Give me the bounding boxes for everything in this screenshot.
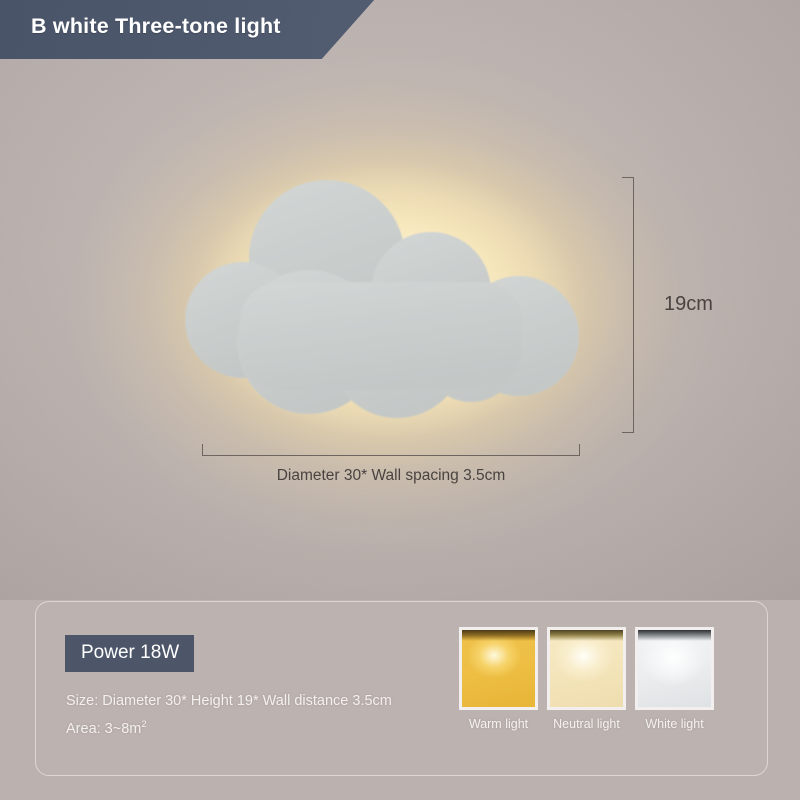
swatch-warm-shade	[462, 630, 535, 641]
swatch-white-label: White light	[645, 717, 703, 731]
swatch-white-shade	[638, 630, 711, 641]
spec-line-size: Size: Diameter 30* Height 19* Wall dista…	[66, 690, 392, 713]
cloud-lamp	[185, 172, 580, 428]
width-tick-right	[579, 444, 580, 456]
spec-area-superscript: 2	[141, 719, 146, 730]
product-image: Diameter 30* Wall spacing 3.5cm 19cm B w…	[0, 0, 800, 800]
swatch-white[interactable]: White light	[635, 627, 714, 731]
spec-panel: Power 18W Size: Diameter 30* Height 19* …	[35, 601, 768, 776]
width-dimension-line	[202, 455, 580, 456]
spec-area-text: Area: 3~8m	[66, 721, 141, 737]
width-dimension-bracket	[202, 444, 580, 456]
swatch-neutral-label: Neutral light	[553, 717, 620, 731]
color-temperature-swatches: Warm light Neutral light White light	[459, 627, 714, 731]
swatch-neutral-preview[interactable]	[547, 627, 626, 710]
height-dimension-label: 19cm	[664, 293, 713, 316]
banner-title: B white Three-tone light	[31, 14, 281, 39]
spec-line-area: Area: 3~8m2	[66, 713, 392, 741]
swatch-white-face	[638, 630, 711, 707]
width-dimension-label: Diameter 30* Wall spacing 3.5cm	[202, 467, 580, 485]
swatch-warm-face	[462, 630, 535, 707]
swatch-neutral-shade	[550, 630, 623, 641]
height-dimension-bracket	[622, 177, 634, 433]
swatch-neutral[interactable]: Neutral light	[547, 627, 626, 731]
cloud-lamp-silhouette	[185, 172, 580, 428]
swatch-warm[interactable]: Warm light	[459, 627, 538, 731]
swatch-warm-preview[interactable]	[459, 627, 538, 710]
wall-scene: Diameter 30* Wall spacing 3.5cm 19cm	[0, 0, 800, 600]
swatch-neutral-face	[550, 630, 623, 707]
height-tick-bottom	[622, 432, 634, 433]
swatch-white-preview[interactable]	[635, 627, 714, 710]
spec-text-block: Size: Diameter 30* Height 19* Wall dista…	[66, 690, 392, 741]
power-badge: Power 18W	[65, 635, 194, 672]
height-dimension-line	[633, 177, 634, 433]
swatch-warm-label: Warm light	[469, 717, 528, 731]
